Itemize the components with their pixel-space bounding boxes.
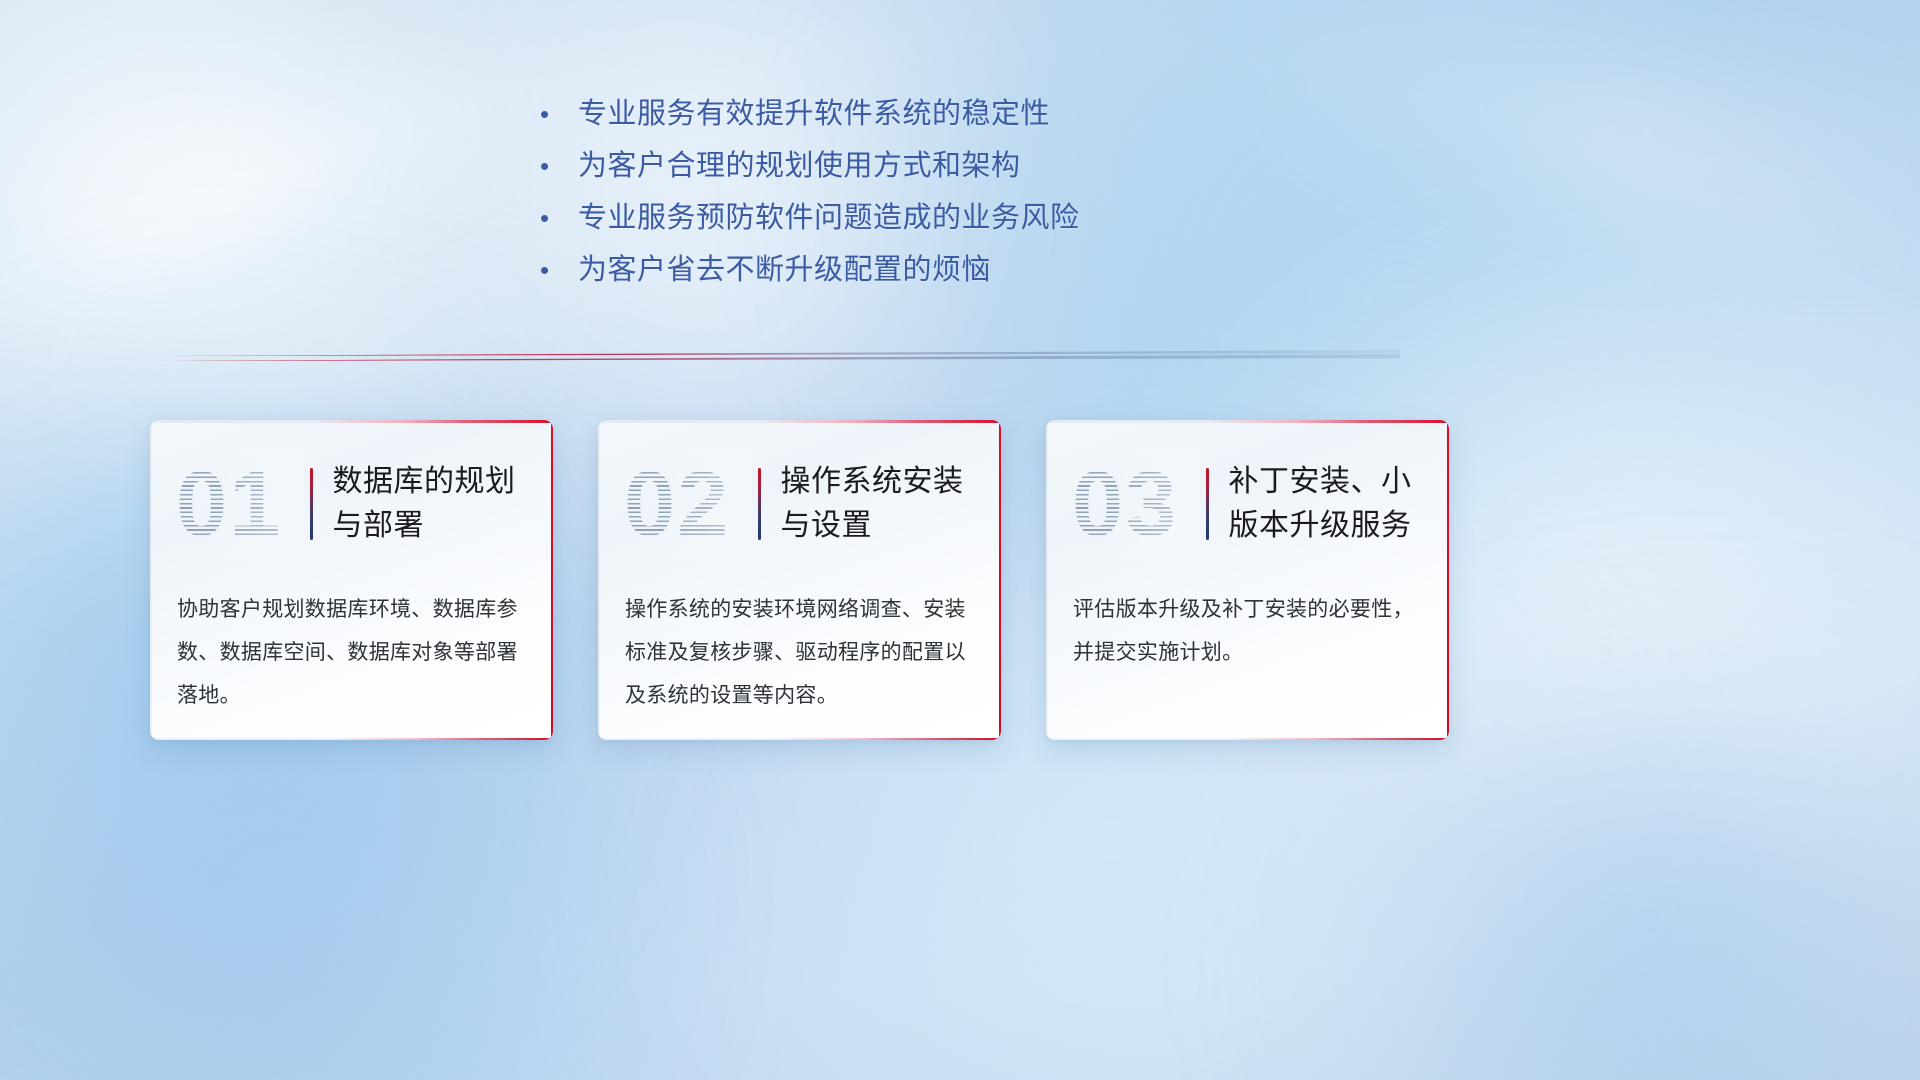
card-title: 数据库的规划 与部署 bbox=[333, 460, 554, 548]
bullet-dot-icon: • bbox=[540, 88, 578, 140]
card-number-watermark: 03 bbox=[1072, 450, 1200, 558]
card-accent-top-border bbox=[1046, 420, 1449, 423]
card-title-line-1: 数据库的规划 bbox=[333, 460, 540, 504]
list-item: • 为客户省去不断升级配置的烦恼 bbox=[540, 244, 1240, 296]
card-title-line-1: 补丁安装、小 bbox=[1229, 460, 1436, 504]
card-accent-top-border bbox=[598, 420, 1001, 423]
divider-line-lower bbox=[150, 354, 1400, 361]
card-header: 03 补丁安装、小 版本升级服务 bbox=[1046, 446, 1449, 562]
list-item-label: 专业服务预防软件问题造成的业务风险 bbox=[578, 192, 1080, 244]
list-item-label: 为客户省去不断升级配置的烦恼 bbox=[578, 244, 991, 296]
card-number-watermark: 02 bbox=[624, 450, 752, 558]
card-title-line-2: 与部署 bbox=[333, 504, 540, 548]
list-item-label: 专业服务有效提升软件系统的稳定性 bbox=[578, 88, 1050, 140]
card-title-line-1: 操作系统安装 bbox=[781, 460, 988, 504]
card-title-divider-bar bbox=[1206, 468, 1209, 540]
section-divider bbox=[150, 350, 1400, 362]
divider-line-upper bbox=[150, 350, 1400, 356]
list-item: • 专业服务预防软件问题造成的业务风险 bbox=[540, 192, 1240, 244]
service-card[interactable]: 03 补丁安装、小 版本升级服务 评估版本升级及补丁安装的必要性，并提交实施计划… bbox=[1046, 420, 1449, 740]
bullet-dot-icon: • bbox=[540, 244, 578, 296]
card-number-watermark: 01 bbox=[176, 450, 304, 558]
card-header: 01 数据库的规划 与部署 bbox=[150, 446, 553, 562]
list-item-label: 为客户合理的规划使用方式和架构 bbox=[578, 140, 1021, 192]
benefits-bullet-list: • 专业服务有效提升软件系统的稳定性 • 为客户合理的规划使用方式和架构 • 专… bbox=[540, 88, 1240, 296]
card-title-divider-bar bbox=[310, 468, 313, 540]
card-header: 02 操作系统安装 与设置 bbox=[598, 446, 1001, 562]
card-accent-bottom-border bbox=[150, 738, 553, 741]
bullet-dot-icon: • bbox=[540, 192, 578, 244]
service-card[interactable]: 01 数据库的规划 与部署 协助客户规划数据库环境、数据库参数、数据库空间、数据… bbox=[150, 420, 553, 740]
card-body-text: 操作系统的安装环境网络调查、安装标准及复核步骤、驱动程序的配置以及系统的设置等内… bbox=[625, 588, 977, 717]
card-title: 补丁安装、小 版本升级服务 bbox=[1229, 460, 1450, 548]
bullet-dot-icon: • bbox=[540, 140, 578, 192]
card-title-line-2: 与设置 bbox=[781, 504, 988, 548]
card-title: 操作系统安装 与设置 bbox=[781, 460, 1002, 548]
card-accent-bottom-border bbox=[598, 738, 1001, 741]
card-title-line-2: 版本升级服务 bbox=[1229, 504, 1436, 548]
card-accent-top-border bbox=[150, 420, 553, 423]
card-body-text: 协助客户规划数据库环境、数据库参数、数据库空间、数据库对象等部署落地。 bbox=[177, 588, 529, 717]
service-card[interactable]: 02 操作系统安装 与设置 操作系统的安装环境网络调查、安装标准及复核步骤、驱动… bbox=[598, 420, 1001, 740]
card-title-divider-bar bbox=[758, 468, 761, 540]
list-item: • 专业服务有效提升软件系统的稳定性 bbox=[540, 88, 1240, 140]
list-item: • 为客户合理的规划使用方式和架构 bbox=[540, 140, 1240, 192]
card-accent-bottom-border bbox=[1046, 738, 1449, 741]
service-card-list: 01 数据库的规划 与部署 协助客户规划数据库环境、数据库参数、数据库空间、数据… bbox=[150, 420, 1450, 750]
card-body-text: 评估版本升级及补丁安装的必要性，并提交实施计划。 bbox=[1073, 588, 1425, 674]
